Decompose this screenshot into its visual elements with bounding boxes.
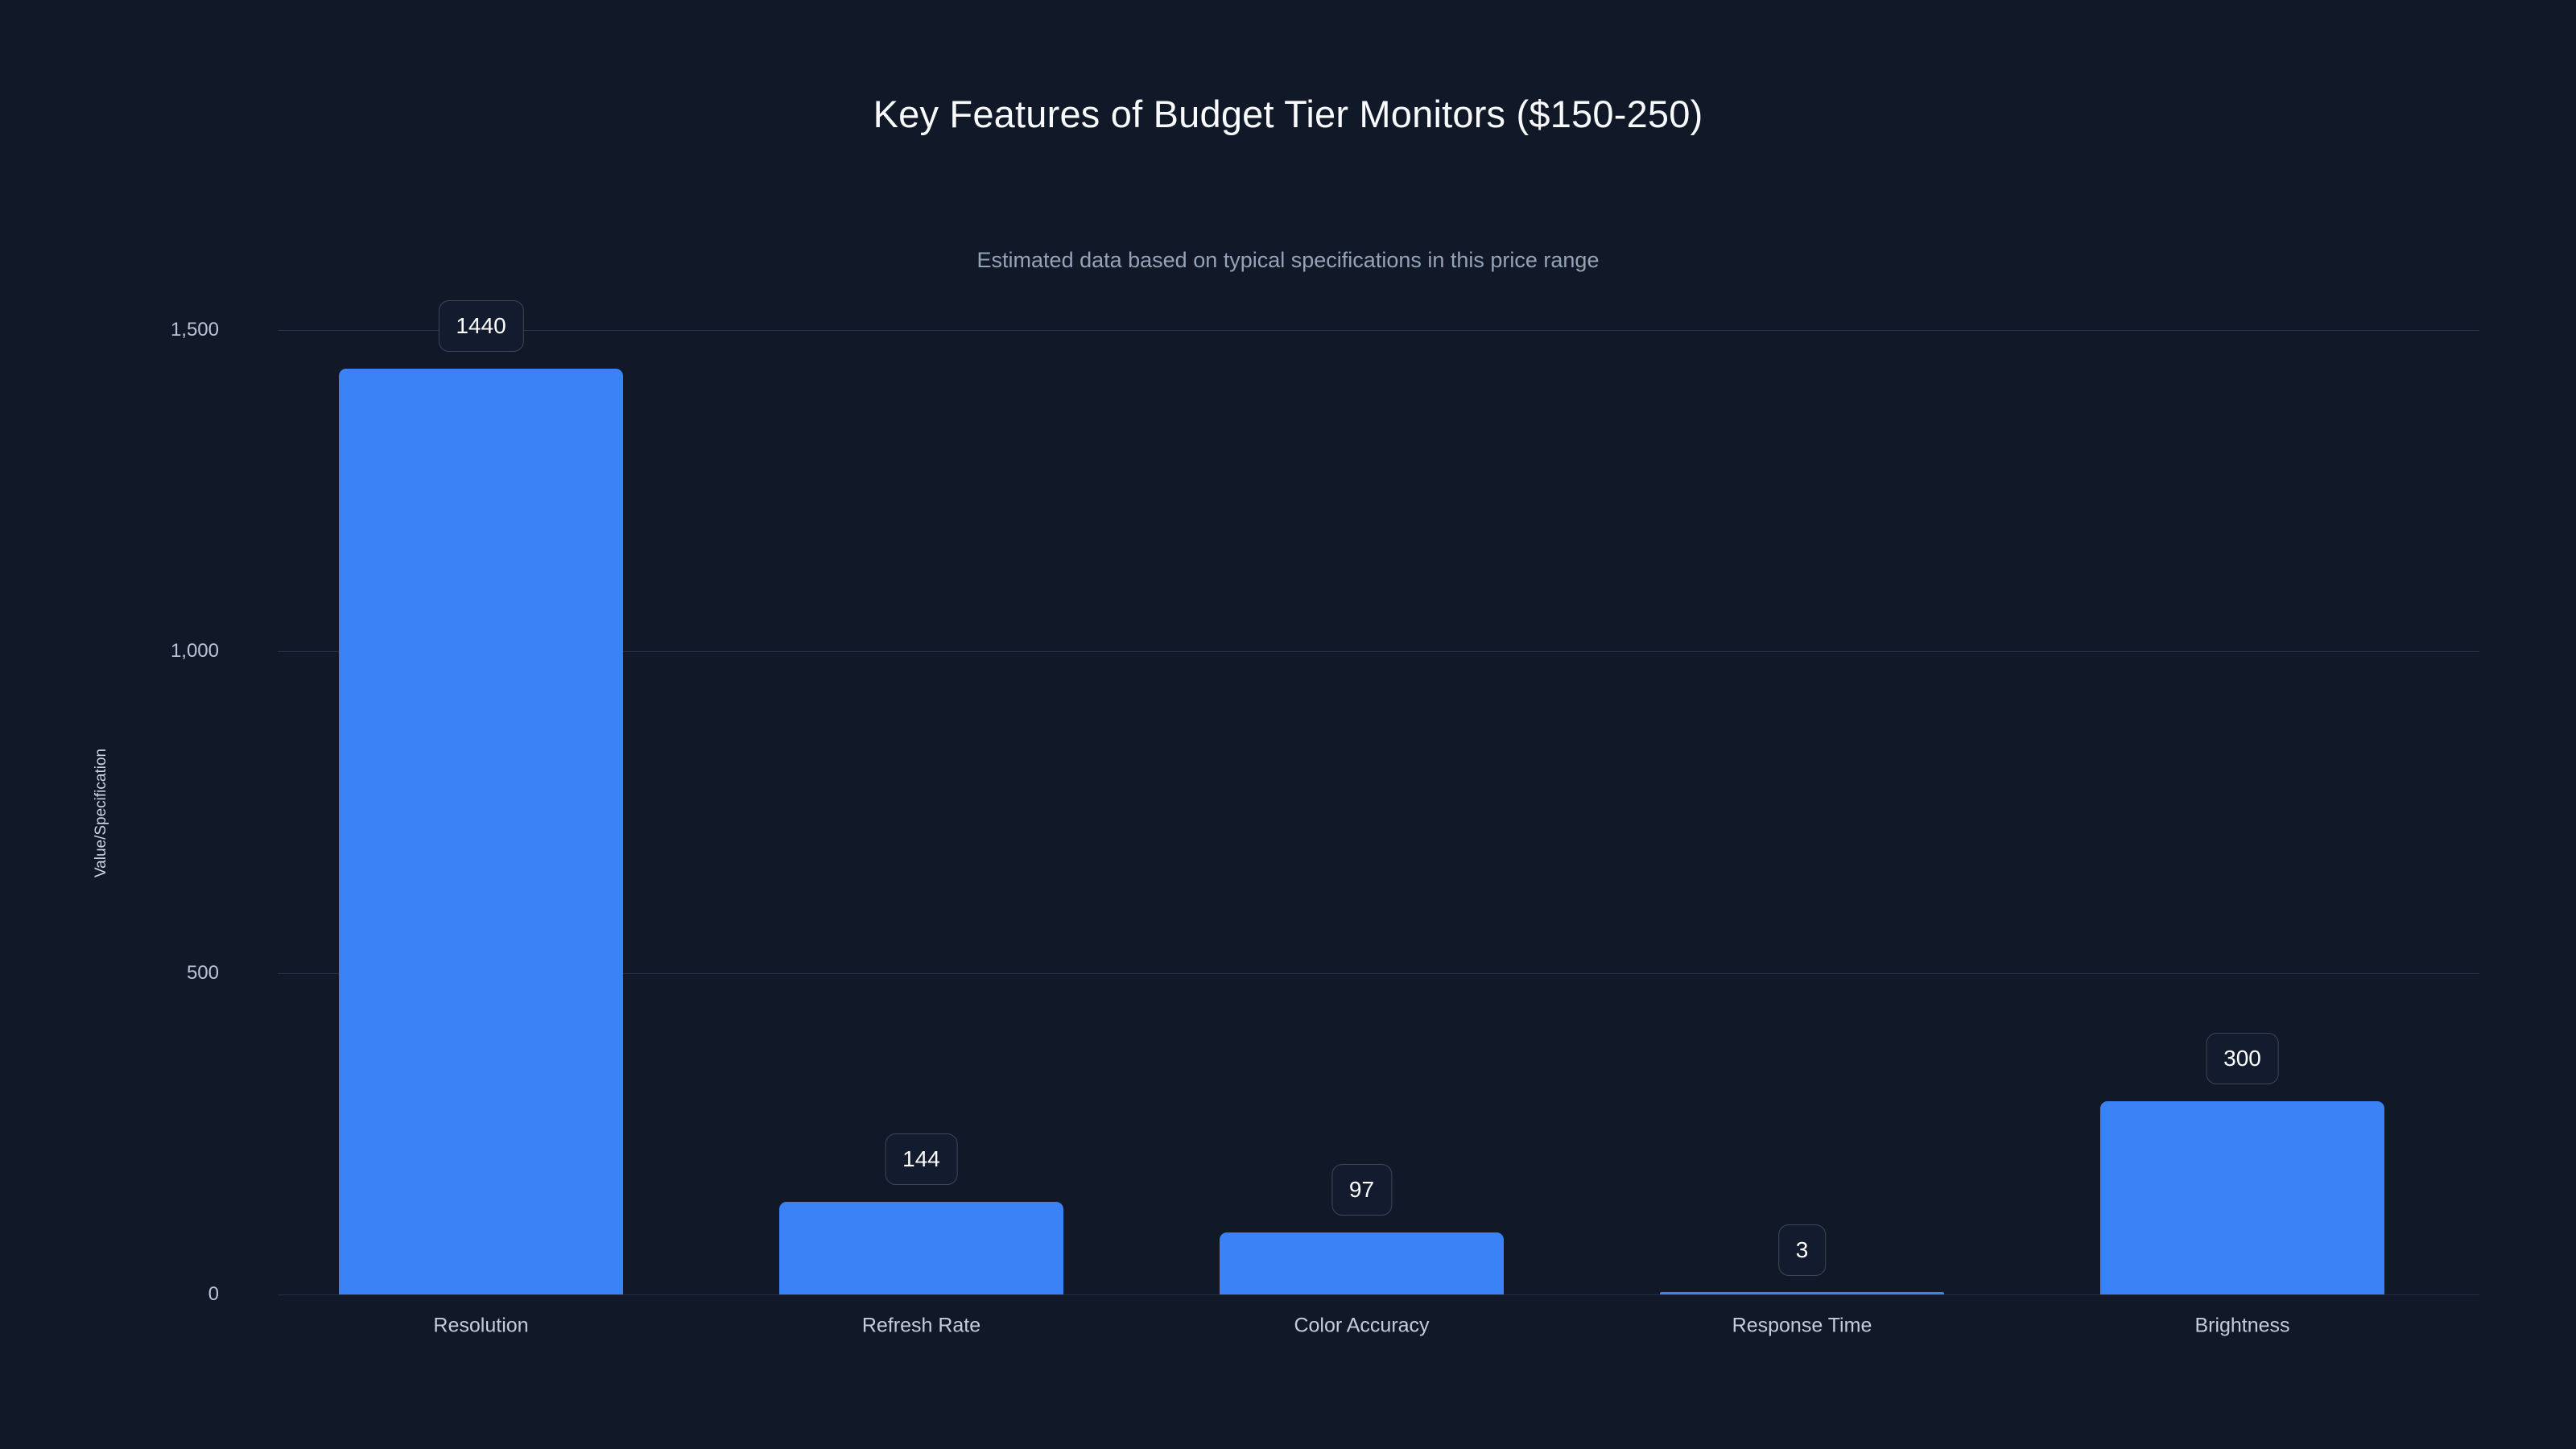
bar-slot	[2100, 330, 2384, 1294]
x-axis-tick-label: Color Accuracy	[1294, 1315, 1429, 1338]
bar[interactable]	[1220, 1232, 1504, 1294]
bar-value-label: 300	[2206, 1033, 2279, 1084]
bar-series	[278, 330, 2479, 1294]
y-axis-tick-label: 0	[0, 1283, 258, 1306]
bar-slot	[1660, 330, 1944, 1294]
axis-baseline	[278, 1294, 2479, 1295]
bar[interactable]	[339, 369, 623, 1294]
bar-chart-canvas: Key Features of Budget Tier Monitors ($1…	[0, 0, 2576, 1449]
bar-value-label: 144	[885, 1133, 958, 1185]
bar-slot	[339, 330, 623, 1294]
y-axis-title: Value/Specification	[93, 749, 110, 877]
bar[interactable]	[1660, 1292, 1944, 1294]
bar-slot	[1220, 330, 1504, 1294]
x-axis-tick-label: Response Time	[1732, 1315, 1872, 1338]
y-axis-tick-label: 1,500	[0, 319, 258, 341]
bar[interactable]	[779, 1202, 1063, 1294]
y-axis-tick-label: 1,000	[0, 640, 258, 663]
y-axis-tick-label: 500	[0, 962, 258, 985]
chart-title: Key Features of Budget Tier Monitors ($1…	[0, 92, 2576, 136]
chart-subtitle: Estimated data based on typical specific…	[0, 248, 2576, 273]
bar-value-label: 97	[1331, 1164, 1392, 1216]
bar-value-label: 1440	[438, 300, 523, 352]
bar[interactable]	[2100, 1101, 2384, 1294]
x-axis-tick-label: Brightness	[2194, 1315, 2289, 1338]
x-axis-tick-label: Resolution	[433, 1315, 528, 1338]
bar-value-label: 3	[1778, 1224, 1827, 1276]
x-axis-tick-label: Refresh Rate	[862, 1315, 980, 1338]
